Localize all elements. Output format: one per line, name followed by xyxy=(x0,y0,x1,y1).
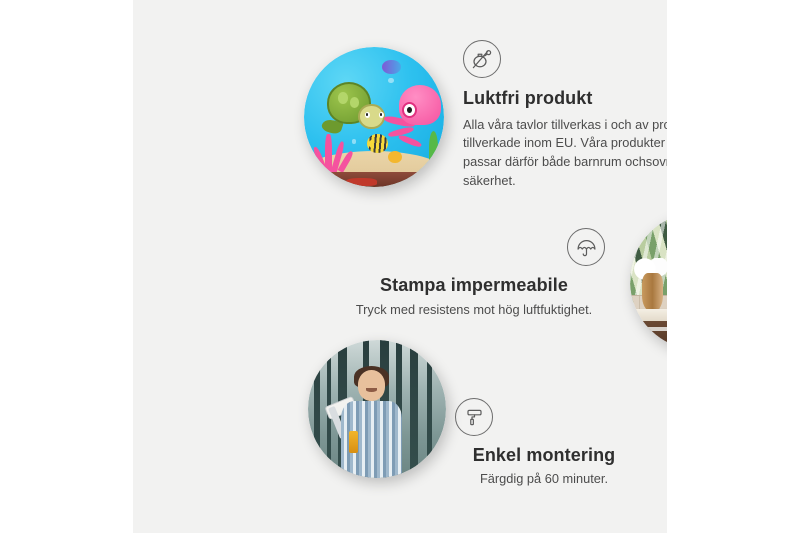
tree xyxy=(427,340,433,478)
no-fragrance-icon xyxy=(463,40,501,78)
painter-face xyxy=(358,370,386,400)
octopus-tentacle xyxy=(397,133,421,148)
tree xyxy=(314,340,321,478)
small-fish-icon xyxy=(388,151,402,164)
turtle-head xyxy=(358,104,384,129)
seaweed-icon xyxy=(429,131,439,167)
product-image-bathroom[interactable] xyxy=(630,212,667,350)
feature-block-odourless: Luktfri produkt Alla våra tavlor tillver… xyxy=(463,40,667,191)
bubble-icon xyxy=(388,78,394,84)
feature-title: Luktfri produkt xyxy=(463,87,667,110)
product-image-painter[interactable] xyxy=(308,340,446,478)
ocean-floor xyxy=(304,172,444,187)
coral-icon xyxy=(315,134,354,173)
screenshot-root: Luktfri produkt Alla våra tavlor tillver… xyxy=(0,0,800,533)
umbrella-icon xyxy=(567,228,605,266)
turtle-icon xyxy=(322,82,381,131)
feature-description: Tryck med resistens mot hög luftfuktighe… xyxy=(343,301,605,320)
feature-block-mounting: Enkel montering Färgdig på 60 minuter. xyxy=(433,398,655,488)
tree xyxy=(410,340,418,478)
feature-description: Alla våra tavlor tillverkas i och av pro… xyxy=(463,116,667,192)
bathroom-scene xyxy=(630,212,667,350)
ocean-scene xyxy=(304,47,444,187)
paint-tool xyxy=(349,431,357,453)
product-image-ocean[interactable] xyxy=(304,47,444,187)
feature-block-waterproof: Stampa impermeabile Tryck med resistens … xyxy=(343,228,605,319)
paint-roller-icon xyxy=(455,398,493,436)
feature-title: Stampa impermeabile xyxy=(343,274,605,297)
feature-description: Färgdig på 60 minuter. xyxy=(433,470,655,489)
feature-title: Enkel montering xyxy=(433,444,655,467)
content-panel: Luktfri produkt Alla våra tavlor tillver… xyxy=(133,0,667,533)
purple-fish-icon xyxy=(382,60,400,74)
octopus-eye xyxy=(402,102,417,118)
vanity-cabinet xyxy=(630,321,667,350)
octopus-head xyxy=(399,85,441,125)
painter-scene xyxy=(308,340,446,478)
vase xyxy=(642,273,663,312)
